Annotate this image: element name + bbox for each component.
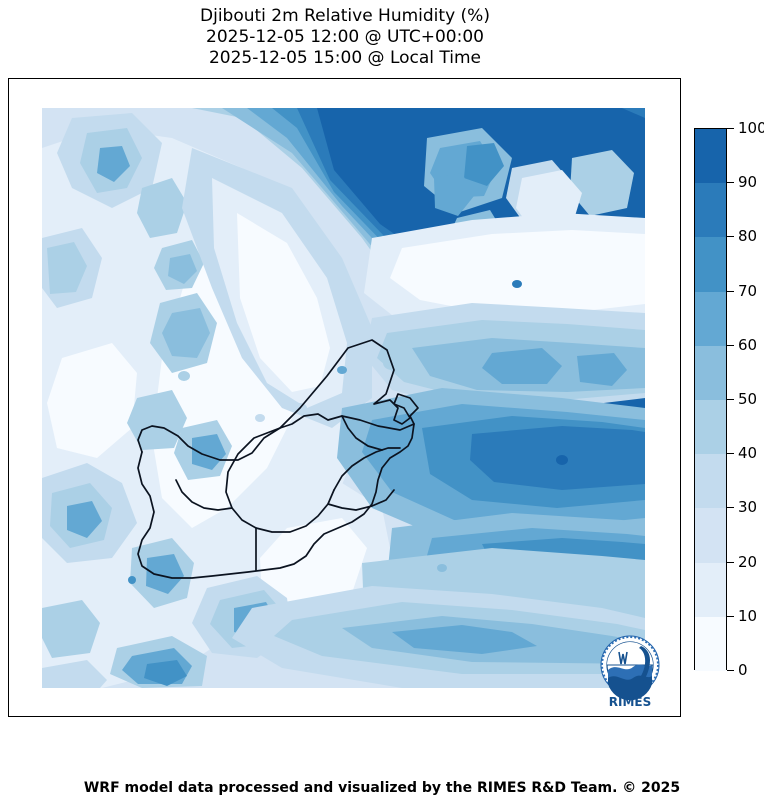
- rimes-logo: RIMES: [597, 634, 663, 710]
- colorbar-band-90-100: [695, 129, 726, 183]
- footer-credit: WRF model data processed and visualized …: [0, 780, 764, 796]
- colorbar-tick-label-10: 10: [738, 607, 757, 625]
- colorbar-tick-50: [727, 399, 734, 400]
- colorbar-band-10-20: [695, 563, 726, 617]
- colorbar-tick-label-80: 80: [738, 227, 757, 245]
- colorbar-tick-80: [727, 236, 734, 237]
- colorbar-tick-0: [727, 670, 734, 671]
- colorbar-tick-label-60: 60: [738, 336, 757, 354]
- colorbar-tick-label-30: 30: [738, 498, 757, 516]
- colorbar-tick-20: [727, 562, 734, 563]
- colorbar-band-80-90: [695, 183, 726, 237]
- colorbar-band-60-70: [695, 292, 726, 346]
- colorbar-band-70-80: [695, 237, 726, 291]
- colorbar-tick-label-100: 100: [738, 119, 764, 137]
- colorbar-tick-90: [727, 182, 734, 183]
- rimes-logo-graphic: RIMES: [597, 634, 663, 710]
- colorbar-tick-100: [727, 128, 734, 129]
- colorbar-tick-label-40: 40: [738, 444, 757, 462]
- colorbar-tick-label-20: 20: [738, 553, 757, 571]
- colorbar-tick-40: [727, 453, 734, 454]
- colorbar-band-0-10: [695, 617, 726, 671]
- colorbar-tick-10: [727, 616, 734, 617]
- humidity-colorbar[interactable]: [694, 128, 727, 670]
- title-line-utc-time: 2025-12-05 12:00 @ UTC+00:00: [0, 27, 690, 48]
- colorbar-tick-60: [727, 345, 734, 346]
- colorbar-band-40-50: [695, 400, 726, 454]
- colorbar-tick-label-70: 70: [738, 282, 757, 300]
- humidity-contour-field: [42, 108, 645, 688]
- title-line-local-time: 2025-12-05 15:00 @ Local Time: [0, 48, 690, 69]
- colorbar-tick-30: [727, 507, 734, 508]
- colorbar-tick-label-0: 0: [738, 661, 748, 679]
- colorbar-tick-label-50: 50: [738, 390, 757, 408]
- colorbar-band-30-40: [695, 454, 726, 508]
- humidity-map[interactable]: [42, 108, 645, 688]
- colorbar-band-50-60: [695, 346, 726, 400]
- title-line-variable: Djibouti 2m Relative Humidity (%): [0, 6, 690, 27]
- colorbar-band-20-30: [695, 508, 726, 562]
- colorbar-tick-label-90: 90: [738, 173, 757, 191]
- rimes-logo-label: RIMES: [609, 695, 652, 709]
- colorbar-tick-70: [727, 291, 734, 292]
- page-title: Djibouti 2m Relative Humidity (%) 2025-1…: [0, 6, 690, 69]
